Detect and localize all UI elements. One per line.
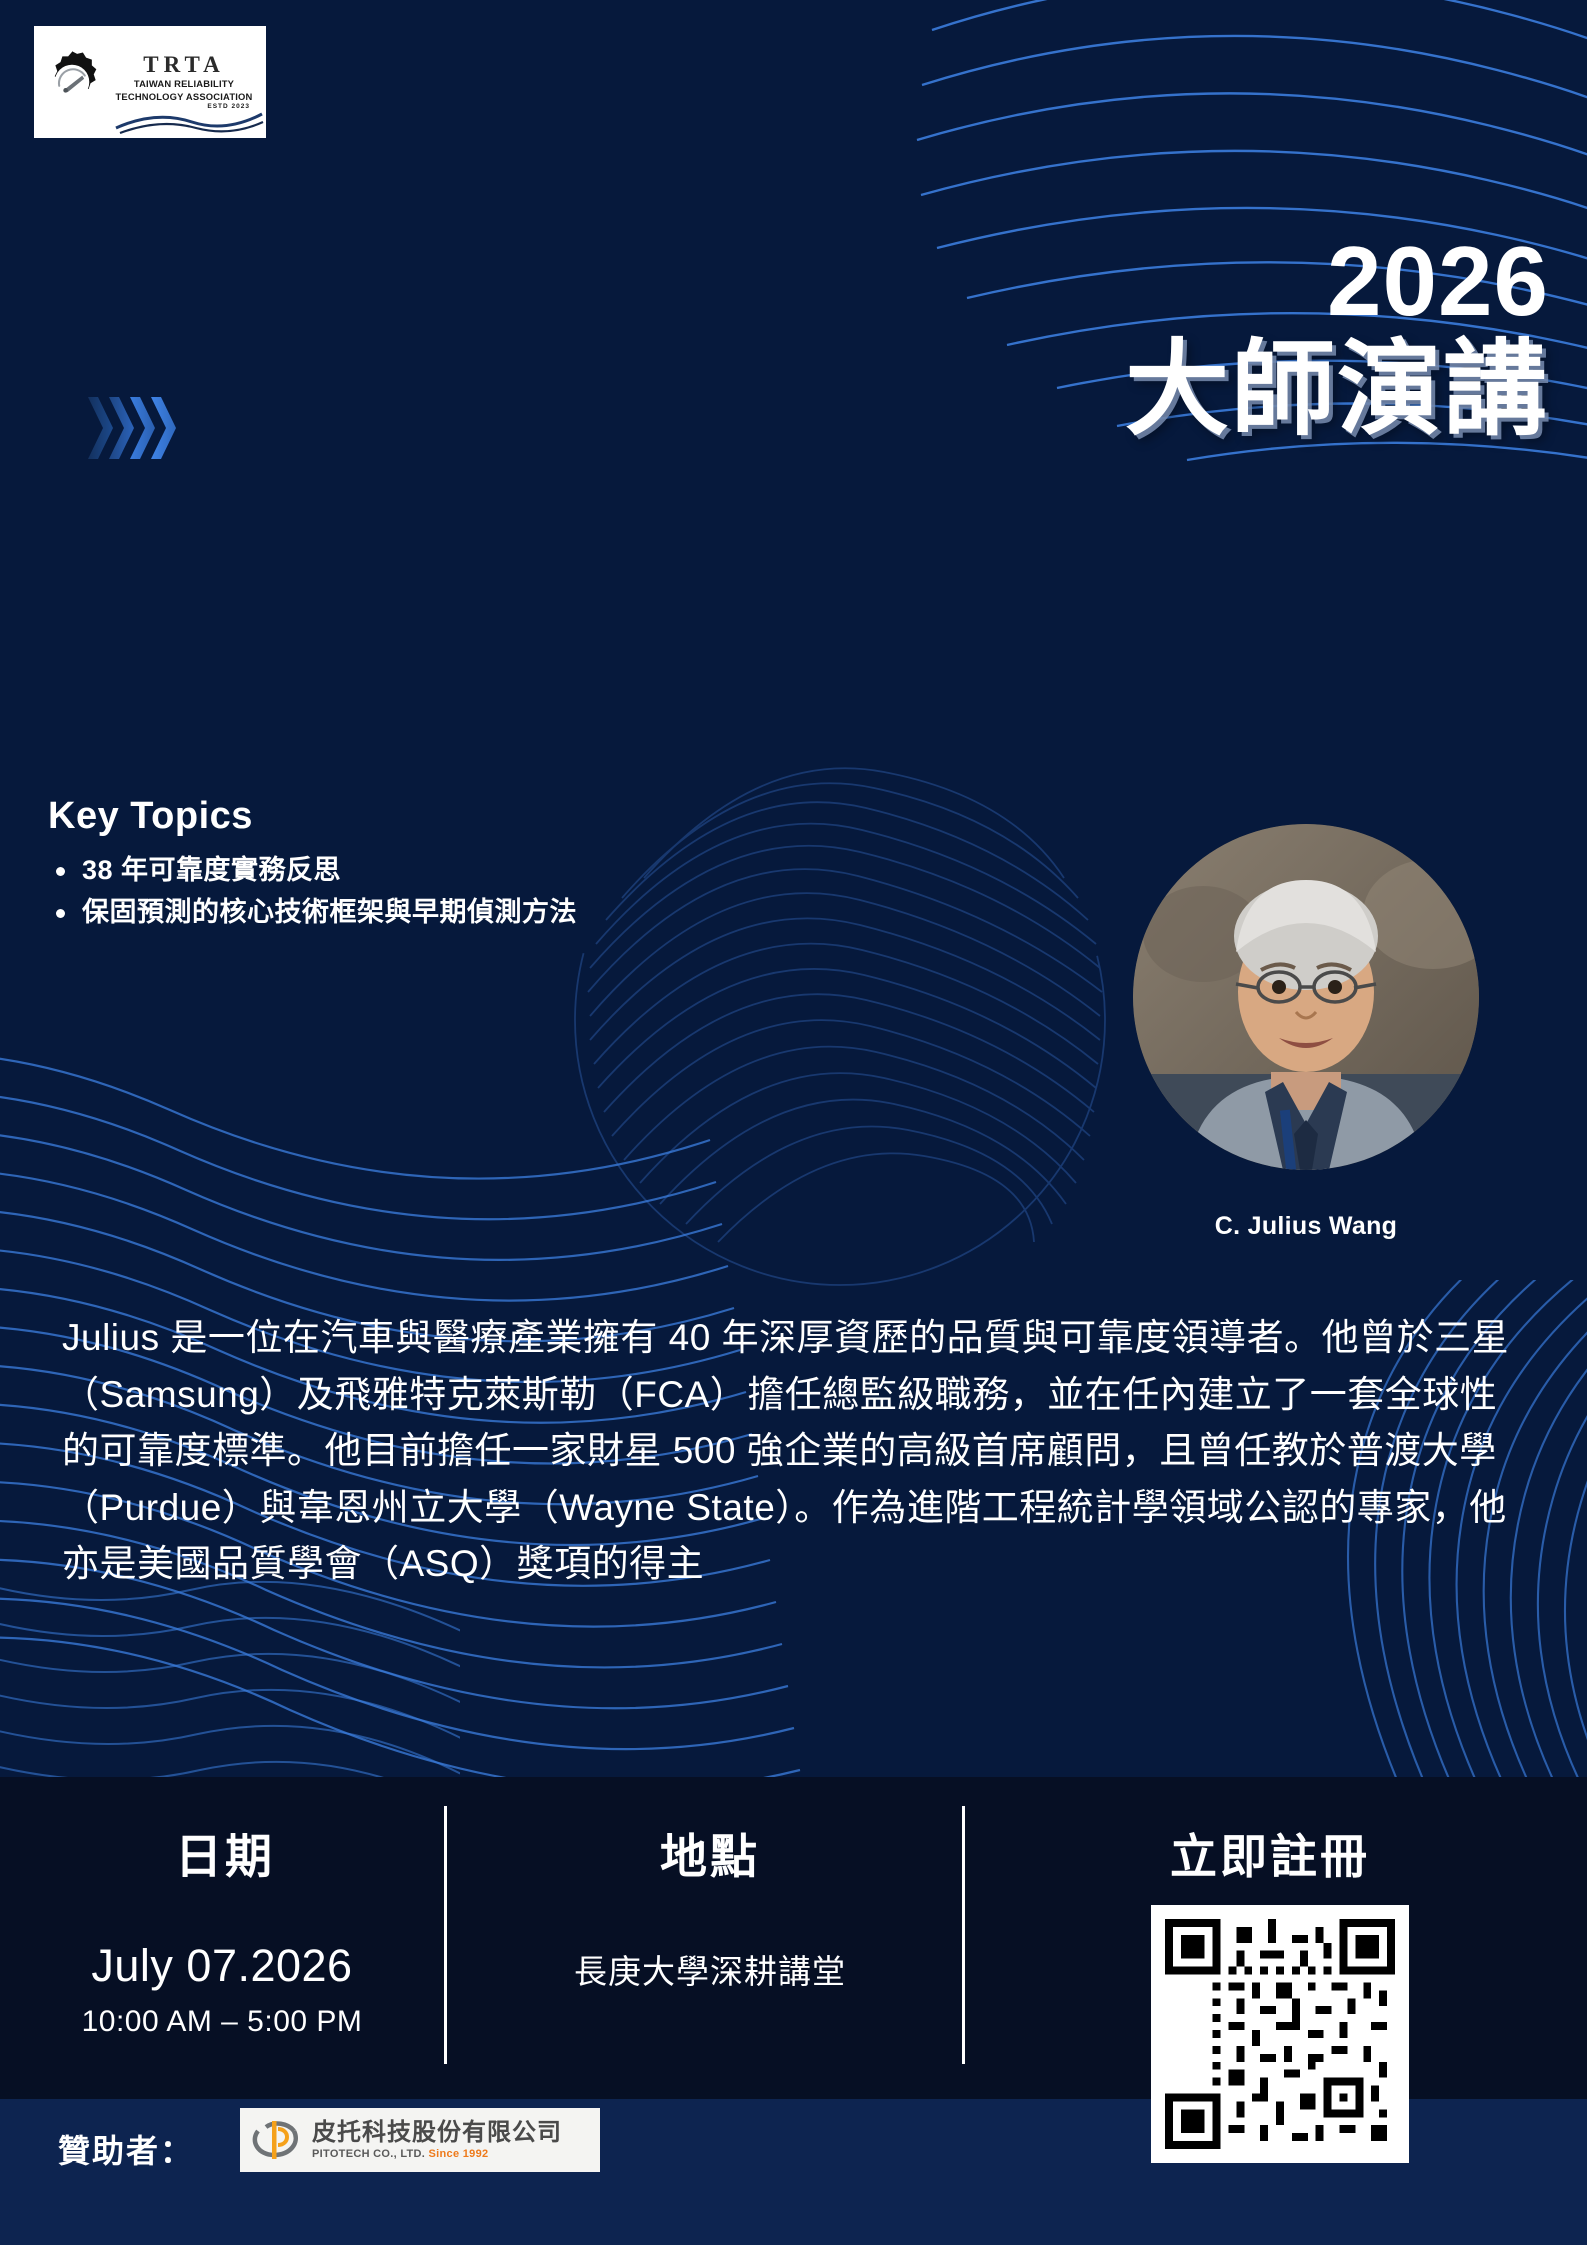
key-topics-heading: Key Topics <box>48 795 808 838</box>
logo-subtitle-line1: TAIWAN RELIABILITY <box>108 79 260 88</box>
event-headline: 大師演講 <box>1125 336 1549 444</box>
date-value: July 07.2026 <box>22 1940 422 1992</box>
sponsor-since: Since 1992 <box>429 2148 489 2160</box>
key-topic-item: 38 年可靠度實務反思 <box>48 850 808 892</box>
sponsor-name-en-text: PITOTECH CO., LTD. <box>312 2148 425 2160</box>
speaker-name: C. Julius Wang <box>1133 1212 1479 1241</box>
speaker-portrait <box>1133 824 1479 1170</box>
logo-swoosh-icon <box>114 108 264 134</box>
sponsor-label: 贊助者： <box>58 2126 194 2172</box>
trta-logo: TRTA TAIWAN RELIABILITY TECHNOLOGY ASSOC… <box>34 26 266 138</box>
logo-acronym: TRTA <box>108 53 260 76</box>
pitotech-mark-icon <box>248 2115 306 2165</box>
sponsor-name-cn: 皮托科技股份有限公司 <box>312 2120 592 2145</box>
date-time: 10:00 AM – 5:00 PM <box>22 2005 422 2039</box>
place-value: 長庚大學深耕講堂 <box>500 1945 920 1993</box>
gear-gauge-icon <box>40 50 104 114</box>
key-topics-list: 38 年可靠度實務反思 保固預測的核心技術框架與早期偵測方法 <box>48 850 808 934</box>
title-block: 2026 大師演講 <box>1125 232 1549 444</box>
register-heading: 立即註冊 <box>1020 1818 1520 1887</box>
place-heading: 地點 <box>500 1818 920 1887</box>
registration-qr-code[interactable] <box>1151 1905 1409 2163</box>
footer-divider <box>962 1806 965 2064</box>
sponsor-name-en: PITOTECH CO., LTD. Since 1992 <box>312 2148 592 2160</box>
logo-wordmark: TRTA TAIWAN RELIABILITY TECHNOLOGY ASSOC… <box>108 53 260 110</box>
footer-divider <box>444 1806 447 2064</box>
logo-subtitle-line2: TECHNOLOGY ASSOCIATION <box>108 92 260 101</box>
key-topics-section: Key Topics 38 年可靠度實務反思 保固預測的核心技術框架與早期偵測方… <box>48 795 808 934</box>
event-poster: TRTA TAIWAN RELIABILITY TECHNOLOGY ASSOC… <box>0 0 1587 2245</box>
sponsor-text: 皮托科技股份有限公司 PITOTECH CO., LTD. Since 1992 <box>312 2120 592 2160</box>
chevron-decoration-icon <box>88 397 198 459</box>
speaker-bio: Julius 是一位在汽車與醫療產業擁有 40 年深厚資歷的品質與可靠度領導者。… <box>62 1310 1532 1593</box>
sponsor-logo: 皮托科技股份有限公司 PITOTECH CO., LTD. Since 1992 <box>240 2108 600 2172</box>
event-year: 2026 <box>1125 232 1549 330</box>
date-heading: 日期 <box>60 1818 390 1887</box>
key-topic-item: 保固預測的核心技術框架與早期偵測方法 <box>48 892 808 934</box>
